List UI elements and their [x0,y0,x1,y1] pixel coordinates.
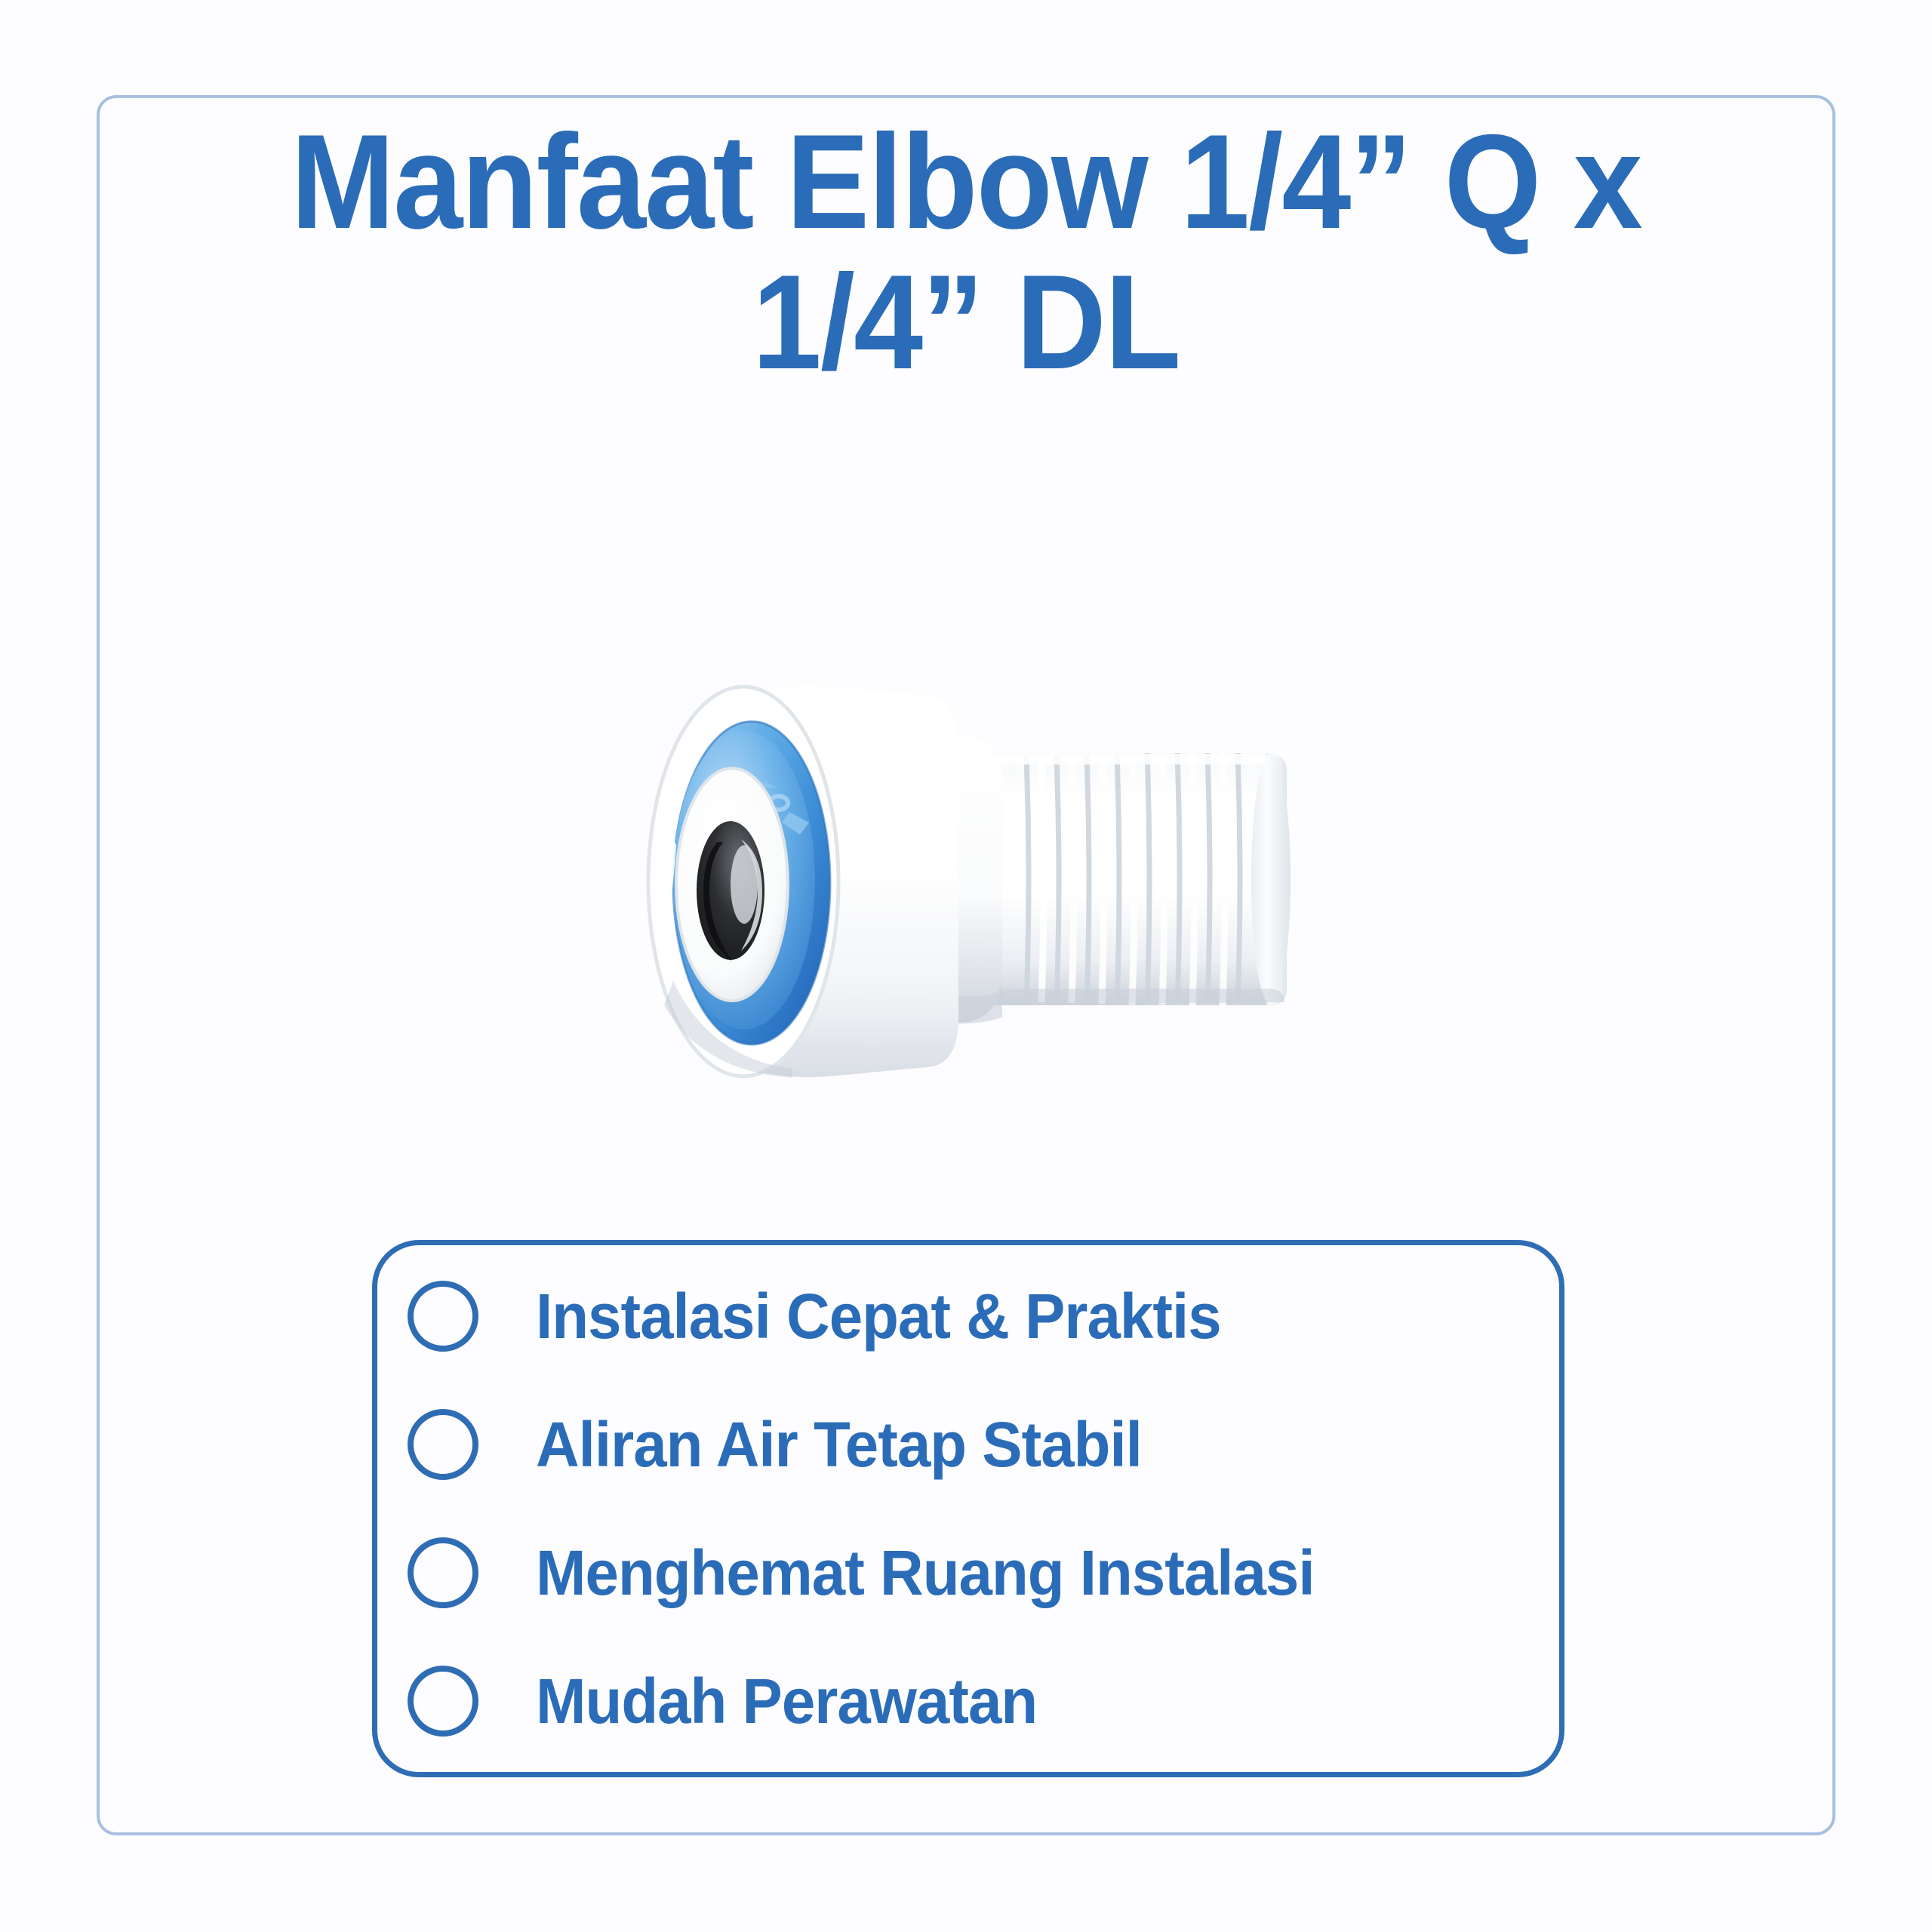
elbow-fitting-illustration [604,664,1366,1094]
title-line-1: Manfaat Elbow 1/4” Q x [208,112,1724,252]
list-item[interactable]: Mudah Perawatan [403,1637,1559,1765]
list-item[interactable]: Instalasi Cepat & Praktis [403,1252,1559,1380]
benefits-list: Instalasi Cepat & Praktis Aliran Air Tet… [377,1245,1559,1772]
benefits-card: Instalasi Cepat & Praktis Aliran Air Tet… [372,1240,1564,1777]
product-image [604,664,1366,1094]
list-item[interactable]: Menghemat Ruang Instalasi [403,1509,1559,1637]
page-title: Manfaat Elbow 1/4” Q x 1/4” DL [151,112,1781,392]
title-line-2: 1/4” DL [208,252,1724,392]
circle-outline-icon [408,1409,478,1480]
benefit-label: Instalasi Cepat & Praktis [536,1281,1221,1351]
benefit-label: Aliran Air Tetap Stabil [536,1410,1142,1479]
benefit-label: Menghemat Ruang Instalasi [536,1538,1315,1607]
circle-outline-icon [408,1537,478,1608]
product-benefit-poster: Manfaat Elbow 1/4” Q x 1/4” DL [0,0,1932,1932]
list-item[interactable]: Aliran Air Tetap Stabil [403,1380,1559,1509]
benefit-label: Mudah Perawatan [536,1666,1037,1736]
quick-connect-socket [648,686,958,1078]
circle-outline-icon [408,1281,478,1352]
circle-outline-icon [408,1666,478,1737]
